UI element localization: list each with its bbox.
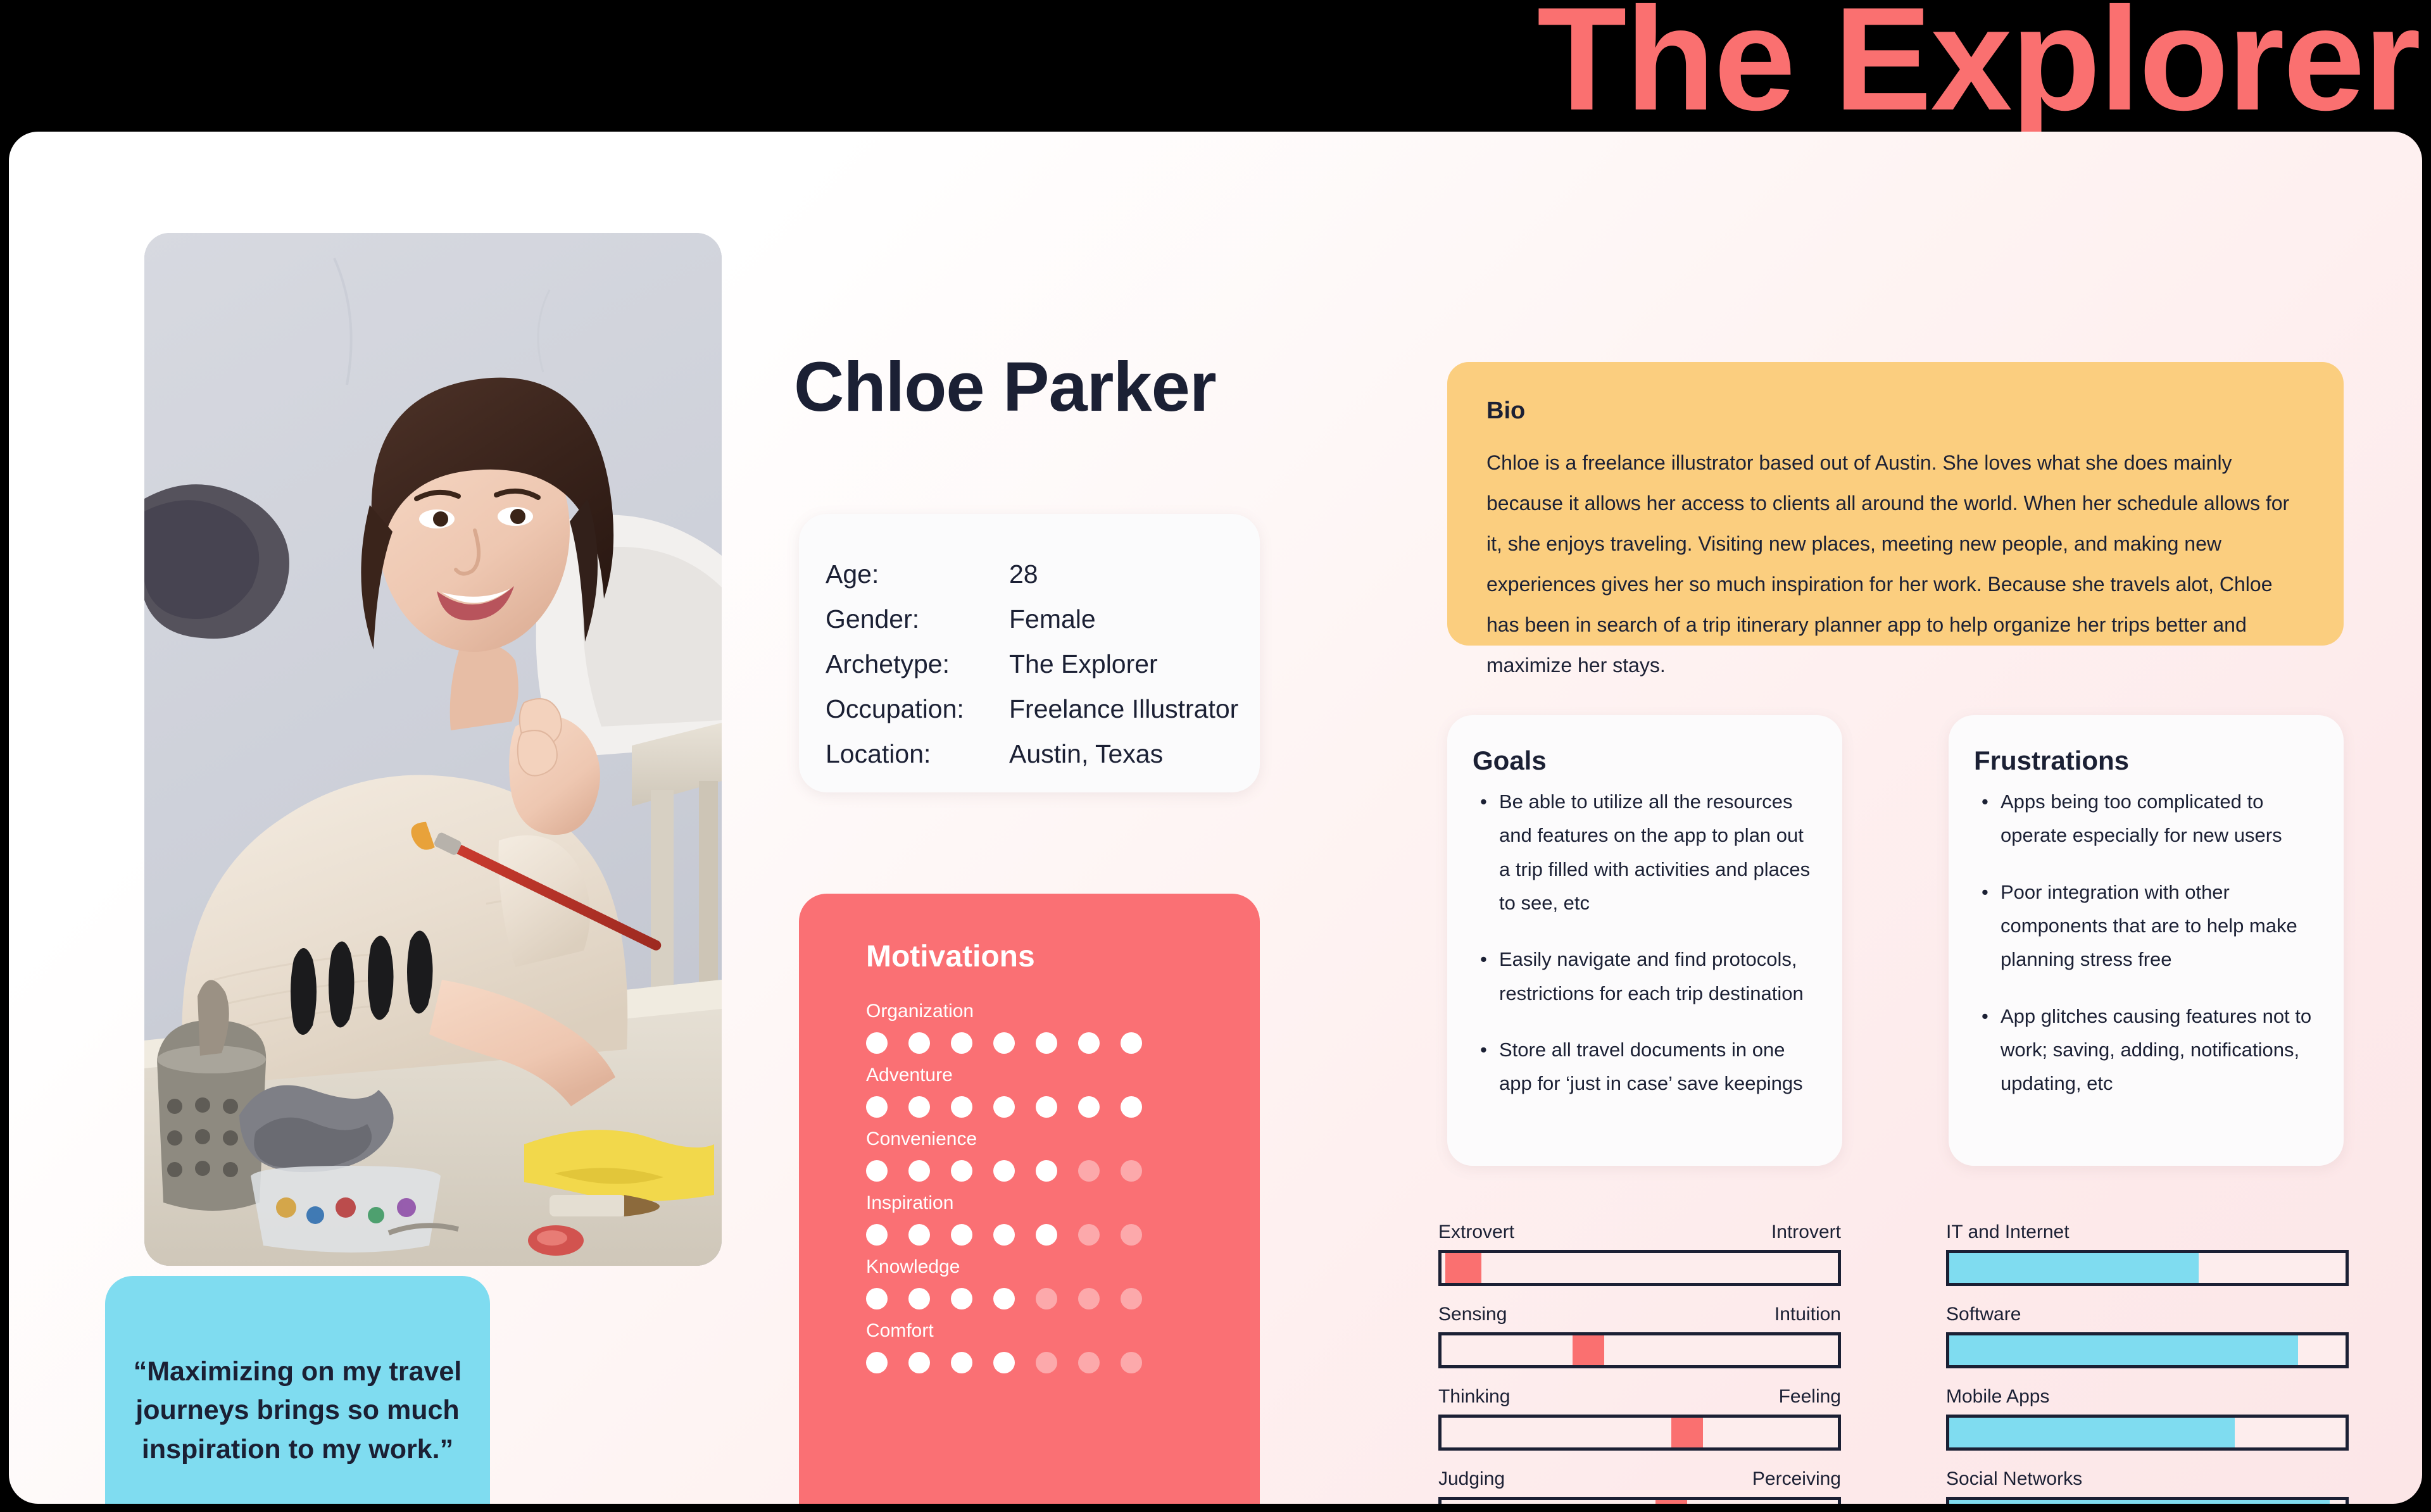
personality-left-label: Extrovert: [1438, 1221, 1514, 1243]
personality-right-label: Perceiving: [1752, 1468, 1841, 1490]
demographics-label: Gender:: [826, 604, 1009, 634]
persona-card: “Maximizing on my travel journeys brings…: [9, 132, 2422, 1504]
motivation-label: Knowledge: [866, 1256, 1260, 1278]
motivation-dot-filled: [993, 1288, 1015, 1309]
demographics-row: Archetype: The Explorer: [826, 649, 1260, 679]
personality-track[interactable]: [1438, 1497, 1841, 1504]
tech-labels: Software: [1946, 1304, 2349, 1325]
motivation-row: Comfort: [866, 1320, 1260, 1373]
tech-label: Social Networks: [1946, 1468, 2082, 1490]
motivation-dot-filled: [951, 1160, 972, 1182]
motivation-label: Adventure: [866, 1065, 1260, 1086]
motivation-dot-empty: [1036, 1288, 1057, 1309]
tech-labels: Social Networks: [1946, 1468, 2349, 1490]
motivation-row: Knowledge: [866, 1256, 1260, 1309]
tech-label: IT and Internet: [1946, 1221, 2070, 1243]
personality-right-label: Introvert: [1771, 1221, 1841, 1243]
tech-bar: Software: [1946, 1304, 2349, 1368]
tech-track: [1946, 1497, 2349, 1504]
motivation-dot-filled: [908, 1352, 930, 1373]
motivation-label: Convenience: [866, 1128, 1260, 1150]
demographics-card: Age: 28 Gender: Female Archetype: The Ex…: [799, 514, 1260, 792]
motivation-dot-scale: [866, 1224, 1260, 1246]
portrait-photo: [144, 233, 722, 1266]
motivation-dot-filled: [908, 1096, 930, 1118]
motivation-row: Adventure: [866, 1065, 1260, 1118]
demographics-label: Occupation:: [826, 694, 1009, 724]
motivation-dot-empty: [1121, 1352, 1142, 1373]
motivation-dot-scale: [866, 1160, 1260, 1182]
motivation-dot-filled: [951, 1032, 972, 1054]
goals-list: Be able to utilize all the resources and…: [1473, 785, 1817, 1101]
personality-labels: ExtrovertIntrovert: [1438, 1221, 1841, 1243]
motivation-dot-scale: [866, 1288, 1260, 1309]
tech-bar: Social Networks: [1946, 1468, 2349, 1504]
list-item: Poor integration with other components t…: [1974, 875, 2318, 977]
demographics-label: Archetype:: [826, 649, 1009, 679]
personality-marker[interactable]: [1655, 1500, 1687, 1504]
tech-track: [1946, 1332, 2349, 1368]
motivation-dot-empty: [1078, 1288, 1100, 1309]
tech-bar: Mobile Apps: [1946, 1386, 2349, 1451]
motivation-dot-filled: [1078, 1096, 1100, 1118]
motivation-dot-filled: [1036, 1160, 1057, 1182]
personality-labels: ThinkingFeeling: [1438, 1386, 1841, 1408]
tech-track: [1946, 1250, 2349, 1286]
list-item: Store all travel documents in one app fo…: [1473, 1033, 1817, 1101]
personality-slider[interactable]: ThinkingFeeling: [1438, 1386, 1841, 1451]
motivations-title: Motivations: [866, 939, 1260, 974]
motivation-dot-filled: [908, 1224, 930, 1246]
poster-root: The Explorer: [0, 0, 2431, 1512]
personality-marker[interactable]: [1573, 1335, 1604, 1365]
tech-bar: IT and Internet: [1946, 1221, 2349, 1286]
personality-left-label: Thinking: [1438, 1386, 1510, 1408]
motivation-label: Organization: [866, 1001, 1260, 1022]
list-item: Be able to utilize all the resources and…: [1473, 785, 1817, 920]
motivation-row: Organization: [866, 1001, 1260, 1054]
motivation-dot-scale: [866, 1032, 1260, 1054]
personality-labels: JudgingPerceiving: [1438, 1468, 1841, 1490]
motivation-dot-filled: [1121, 1032, 1142, 1054]
list-item: Apps being too complicated to operate es…: [1974, 785, 2318, 853]
motivation-label: Inspiration: [866, 1192, 1260, 1214]
demographics-value: The Explorer: [1009, 649, 1158, 679]
personality-marker[interactable]: [1671, 1418, 1703, 1447]
tech-section: IT and InternetSoftwareMobile AppsSocial…: [1946, 1221, 2349, 1504]
frustrations-card: Frustrations Apps being too complicated …: [1949, 715, 2344, 1166]
motivation-row: Convenience: [866, 1128, 1260, 1182]
frustrations-title: Frustrations: [1974, 746, 2318, 776]
list-item: App glitches causing features not to wor…: [1974, 999, 2318, 1101]
page-title: The Explorer: [1537, 0, 2420, 137]
personality-right-label: Feeling: [1779, 1386, 1841, 1408]
frustrations-list: Apps being too complicated to operate es…: [1974, 785, 2318, 1101]
tech-fill: [1949, 1335, 2298, 1365]
personality-left-label: Sensing: [1438, 1304, 1507, 1325]
demographics-value: Austin, Texas: [1009, 739, 1163, 769]
motivation-dot-empty: [1121, 1224, 1142, 1246]
demographics-value: Female: [1009, 604, 1096, 634]
motivations-card: Motivations OrganizationAdventureConveni…: [799, 894, 1260, 1504]
personality-slider[interactable]: JudgingPerceiving: [1438, 1468, 1841, 1504]
list-item: Easily navigate and find protocols, rest…: [1473, 942, 1817, 1010]
tech-label: Mobile Apps: [1946, 1386, 2049, 1408]
motivation-dot-empty: [1078, 1224, 1100, 1246]
personality-labels: SensingIntuition: [1438, 1304, 1841, 1325]
motivation-dot-filled: [951, 1224, 972, 1246]
motivation-dot-filled: [1036, 1096, 1057, 1118]
demographics-value: 28: [1009, 559, 1038, 589]
motivations-rows: OrganizationAdventureConvenienceInspirat…: [866, 1001, 1260, 1373]
personality-slider[interactable]: SensingIntuition: [1438, 1304, 1841, 1368]
motivation-dot-filled: [951, 1096, 972, 1118]
personality-track[interactable]: [1438, 1332, 1841, 1368]
motivation-dot-filled: [866, 1032, 888, 1054]
tech-fill: [1949, 1253, 2199, 1283]
demographics-label: Age:: [826, 559, 1009, 589]
personality-track[interactable]: [1438, 1415, 1841, 1451]
motivation-dot-empty: [1121, 1160, 1142, 1182]
goals-card: Goals Be able to utilize all the resourc…: [1447, 715, 1842, 1166]
persona-name: Chloe Parker: [794, 347, 1216, 427]
demographics-row: Gender: Female: [826, 604, 1260, 634]
persona-quote-box: “Maximizing on my travel journeys brings…: [105, 1276, 490, 1504]
motivation-dot-filled: [908, 1288, 930, 1309]
tech-track: [1946, 1415, 2349, 1451]
demographics-row: Occupation: Freelance Illustrator: [826, 694, 1260, 724]
personality-marker[interactable]: [1445, 1253, 1481, 1283]
motivation-dot-filled: [908, 1160, 930, 1182]
bio-text: Chloe is a freelance illustrator based o…: [1486, 442, 2306, 685]
motivation-dot-empty: [1078, 1352, 1100, 1373]
motivation-dot-filled: [866, 1352, 888, 1373]
motivation-dot-empty: [1036, 1352, 1057, 1373]
tech-labels: IT and Internet: [1946, 1221, 2349, 1243]
motivation-dot-empty: [1078, 1160, 1100, 1182]
motivation-dot-filled: [951, 1352, 972, 1373]
personality-track[interactable]: [1438, 1250, 1841, 1286]
motivation-dot-filled: [993, 1096, 1015, 1118]
motivation-row: Inspiration: [866, 1192, 1260, 1246]
motivation-dot-scale: [866, 1096, 1260, 1118]
motivation-dot-filled: [1036, 1032, 1057, 1054]
personality-right-label: Intuition: [1775, 1304, 1841, 1325]
motivation-dot-filled: [993, 1224, 1015, 1246]
motivation-dot-scale: [866, 1352, 1260, 1373]
motivation-dot-filled: [866, 1288, 888, 1309]
persona-quote-text: “Maximizing on my travel journeys brings…: [128, 1353, 467, 1468]
motivation-dot-filled: [866, 1160, 888, 1182]
tech-label: Software: [1946, 1304, 2021, 1325]
personality-section: ExtrovertIntrovertSensingIntuitionThinki…: [1438, 1221, 1841, 1504]
personality-slider[interactable]: ExtrovertIntrovert: [1438, 1221, 1841, 1286]
bio-title: Bio: [1486, 397, 2306, 425]
motivation-dot-filled: [1036, 1224, 1057, 1246]
tech-fill: [1949, 1500, 2330, 1504]
motivation-dot-filled: [866, 1224, 888, 1246]
portrait-illustration: [144, 233, 722, 1266]
motivation-dot-filled: [993, 1352, 1015, 1373]
bio-card: Bio Chloe is a freelance illustrator bas…: [1447, 362, 2344, 646]
motivation-dot-filled: [908, 1032, 930, 1054]
demographics-row: Location: Austin, Texas: [826, 739, 1260, 769]
motivation-dot-filled: [993, 1160, 1015, 1182]
motivation-label: Comfort: [866, 1320, 1260, 1342]
motivation-dot-empty: [1121, 1288, 1142, 1309]
motivation-dot-filled: [866, 1096, 888, 1118]
demographics-value: Freelance Illustrator: [1009, 694, 1238, 724]
motivation-dot-filled: [1078, 1032, 1100, 1054]
tech-fill: [1949, 1418, 2235, 1447]
motivation-dot-filled: [1121, 1096, 1142, 1118]
tech-labels: Mobile Apps: [1946, 1386, 2349, 1408]
motivation-dot-filled: [951, 1288, 972, 1309]
demographics-label: Location:: [826, 739, 1009, 769]
goals-title: Goals: [1473, 746, 1817, 776]
motivation-dot-filled: [993, 1032, 1015, 1054]
demographics-row: Age: 28: [826, 559, 1260, 589]
personality-left-label: Judging: [1438, 1468, 1505, 1490]
